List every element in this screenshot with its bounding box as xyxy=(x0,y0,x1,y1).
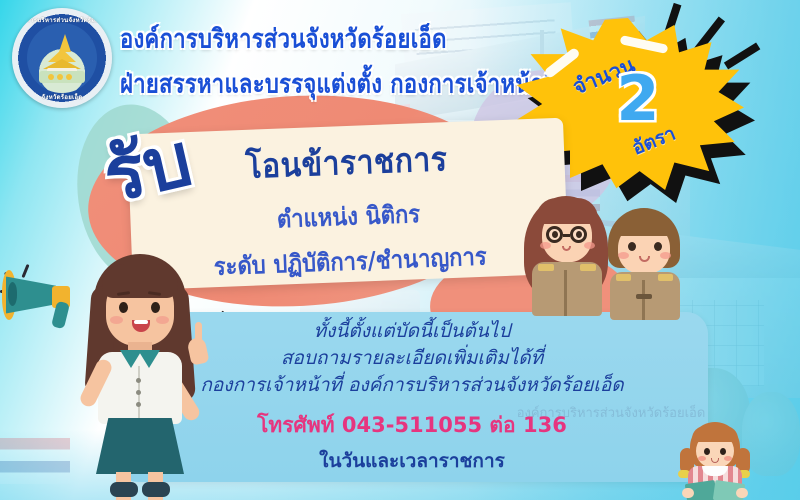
header-division: ฝ่ายสรรหาและบรรจุแต่งตั้ง กองการเจ้าหน้า… xyxy=(120,63,560,104)
header-block: องค์การบริหารส่วนจังหวัดร้อยเอ็ด ฝ่ายสรร… xyxy=(120,18,560,98)
pointing-finger-icon xyxy=(195,322,202,344)
megaphone-girl-character xyxy=(58,246,218,500)
reading-girl-character xyxy=(672,420,758,500)
seal-dots xyxy=(48,74,72,80)
officer-man-character xyxy=(600,208,692,320)
seal-ring-text-bottom: จังหวัดร้อยเอ็ด xyxy=(12,92,112,102)
provincial-seal-icon: องค์การบริหารส่วนจังหวัดร้อยเอ็ด จังหวัด… xyxy=(12,8,112,108)
recruitment-poster: องค์การบริหารส่วนจังหวัดร้อยเอ็ด จังหวัด… xyxy=(0,0,800,500)
header-organization: องค์การบริหารส่วนจังหวัดร้อยเอ็ด xyxy=(120,18,560,59)
megaphone-icon xyxy=(0,264,82,334)
